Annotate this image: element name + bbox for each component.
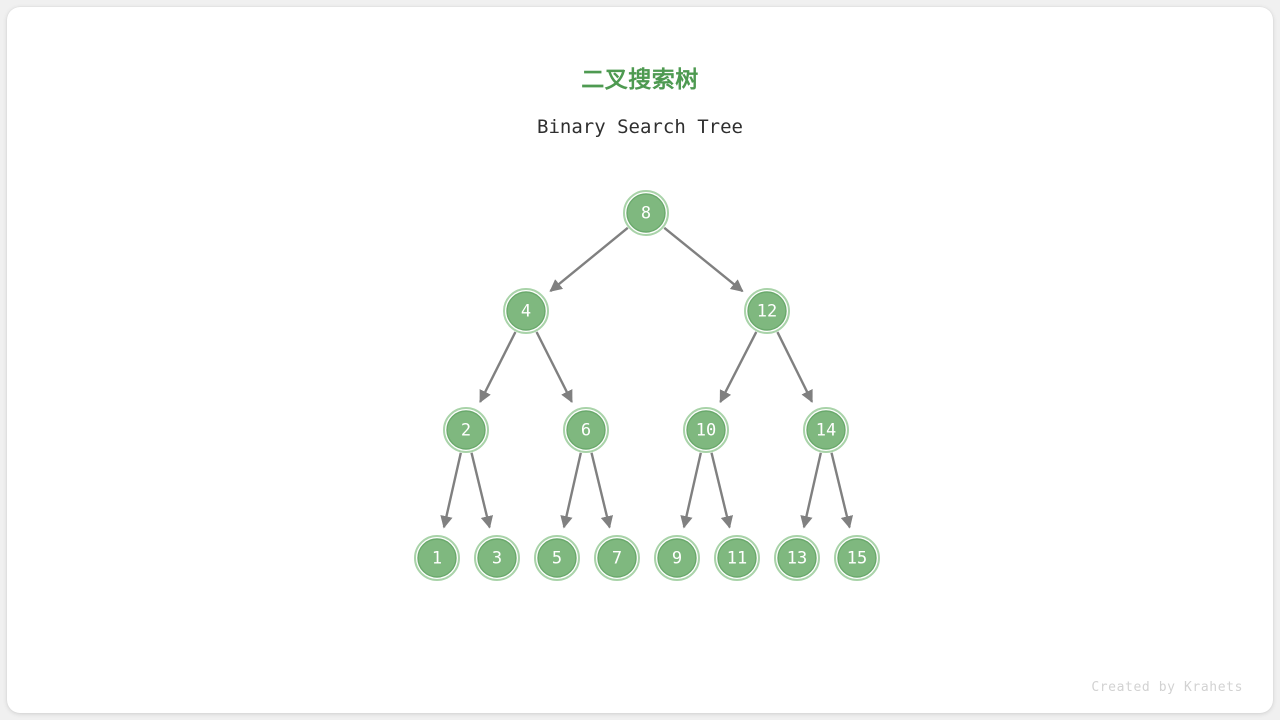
- tree-node[interactable]: 13: [775, 536, 819, 580]
- tree-node[interactable]: 2: [444, 408, 488, 452]
- tree-node[interactable]: 14: [804, 408, 848, 452]
- tree-node-label: 3: [492, 549, 502, 569]
- tree-node[interactable]: 12: [745, 289, 789, 333]
- tree-node-label: 8: [641, 204, 651, 224]
- tree-edge: [777, 332, 812, 402]
- tree-edge: [664, 228, 742, 291]
- tree-node-label: 6: [581, 421, 591, 441]
- tree-node-label: 9: [672, 549, 682, 569]
- screenshot-canvas: 二叉搜索树 Binary Search Tree 841226101413579…: [0, 0, 1280, 720]
- tree-edge: [712, 453, 730, 528]
- tree-node[interactable]: 11: [715, 536, 759, 580]
- tree-edge: [564, 453, 581, 527]
- tree-node-label: 10: [696, 421, 716, 441]
- tree-edge: [537, 332, 572, 402]
- tree-node[interactable]: 6: [564, 408, 608, 452]
- tree-node[interactable]: 4: [504, 289, 548, 333]
- tree-node-label: 13: [787, 549, 807, 569]
- tree-node[interactable]: 8: [624, 191, 668, 235]
- tree-edge: [832, 453, 850, 528]
- tree-nodes-layer: 841226101413579111315: [415, 191, 879, 580]
- tree-edge: [684, 453, 701, 527]
- tree-node-label: 12: [757, 302, 777, 322]
- watermark: Created by Krahets: [1091, 680, 1243, 695]
- tree-node[interactable]: 15: [835, 536, 879, 580]
- tree-node-label: 5: [552, 549, 562, 569]
- tree-node[interactable]: 1: [415, 536, 459, 580]
- tree-edge: [720, 332, 756, 402]
- tree-node[interactable]: 5: [535, 536, 579, 580]
- tree-edge: [804, 453, 821, 527]
- tree-edge: [592, 453, 610, 528]
- tree-node[interactable]: 10: [684, 408, 728, 452]
- tree-edge: [472, 453, 490, 528]
- binary-search-tree-diagram: 841226101413579111315: [7, 7, 1273, 713]
- tree-node[interactable]: 9: [655, 536, 699, 580]
- tree-node-label: 4: [521, 302, 531, 322]
- tree-edge: [480, 332, 515, 402]
- tree-edge: [444, 453, 461, 527]
- tree-node-label: 1: [432, 549, 442, 569]
- tree-node-label: 15: [847, 549, 867, 569]
- tree-edges-layer: [444, 228, 850, 528]
- tree-node-label: 14: [816, 421, 836, 441]
- tree-node[interactable]: 7: [595, 536, 639, 580]
- tree-node-label: 11: [727, 549, 747, 569]
- tree-node-label: 2: [461, 421, 471, 441]
- diagram-card: 二叉搜索树 Binary Search Tree 841226101413579…: [7, 7, 1273, 713]
- tree-node[interactable]: 3: [475, 536, 519, 580]
- tree-edge: [550, 228, 627, 291]
- tree-node-label: 7: [612, 549, 622, 569]
